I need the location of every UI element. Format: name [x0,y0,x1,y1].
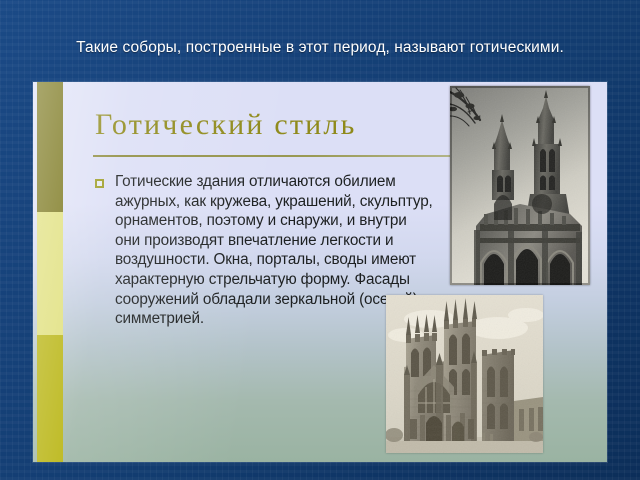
gothic-cathedral-photo-art [450,86,590,285]
bullet-list-item: Готические здания отличаются обилием ажу… [95,172,435,329]
slide-title: Готический стиль [95,108,356,142]
sidebar-stripe-middle [37,212,63,335]
gothic-cathedral-engraving [386,295,543,453]
caption-bar: Такие соборы, построенные в этот период,… [0,26,640,70]
gothic-cathedral-photo [450,86,590,285]
slide-page: Такие соборы, построенные в этот период,… [0,0,640,480]
square-bullet-icon [95,179,104,188]
title-underline-rule [93,155,491,157]
gothic-cathedral-engraving-art [386,295,543,453]
slide-canvas: Готический стиль Готические здания отлич… [33,82,607,462]
sidebar-stripe-top [37,82,63,212]
sidebar-stripe-bottom [37,335,63,462]
caption-text: Такие соборы, построенные в этот период,… [76,39,564,57]
